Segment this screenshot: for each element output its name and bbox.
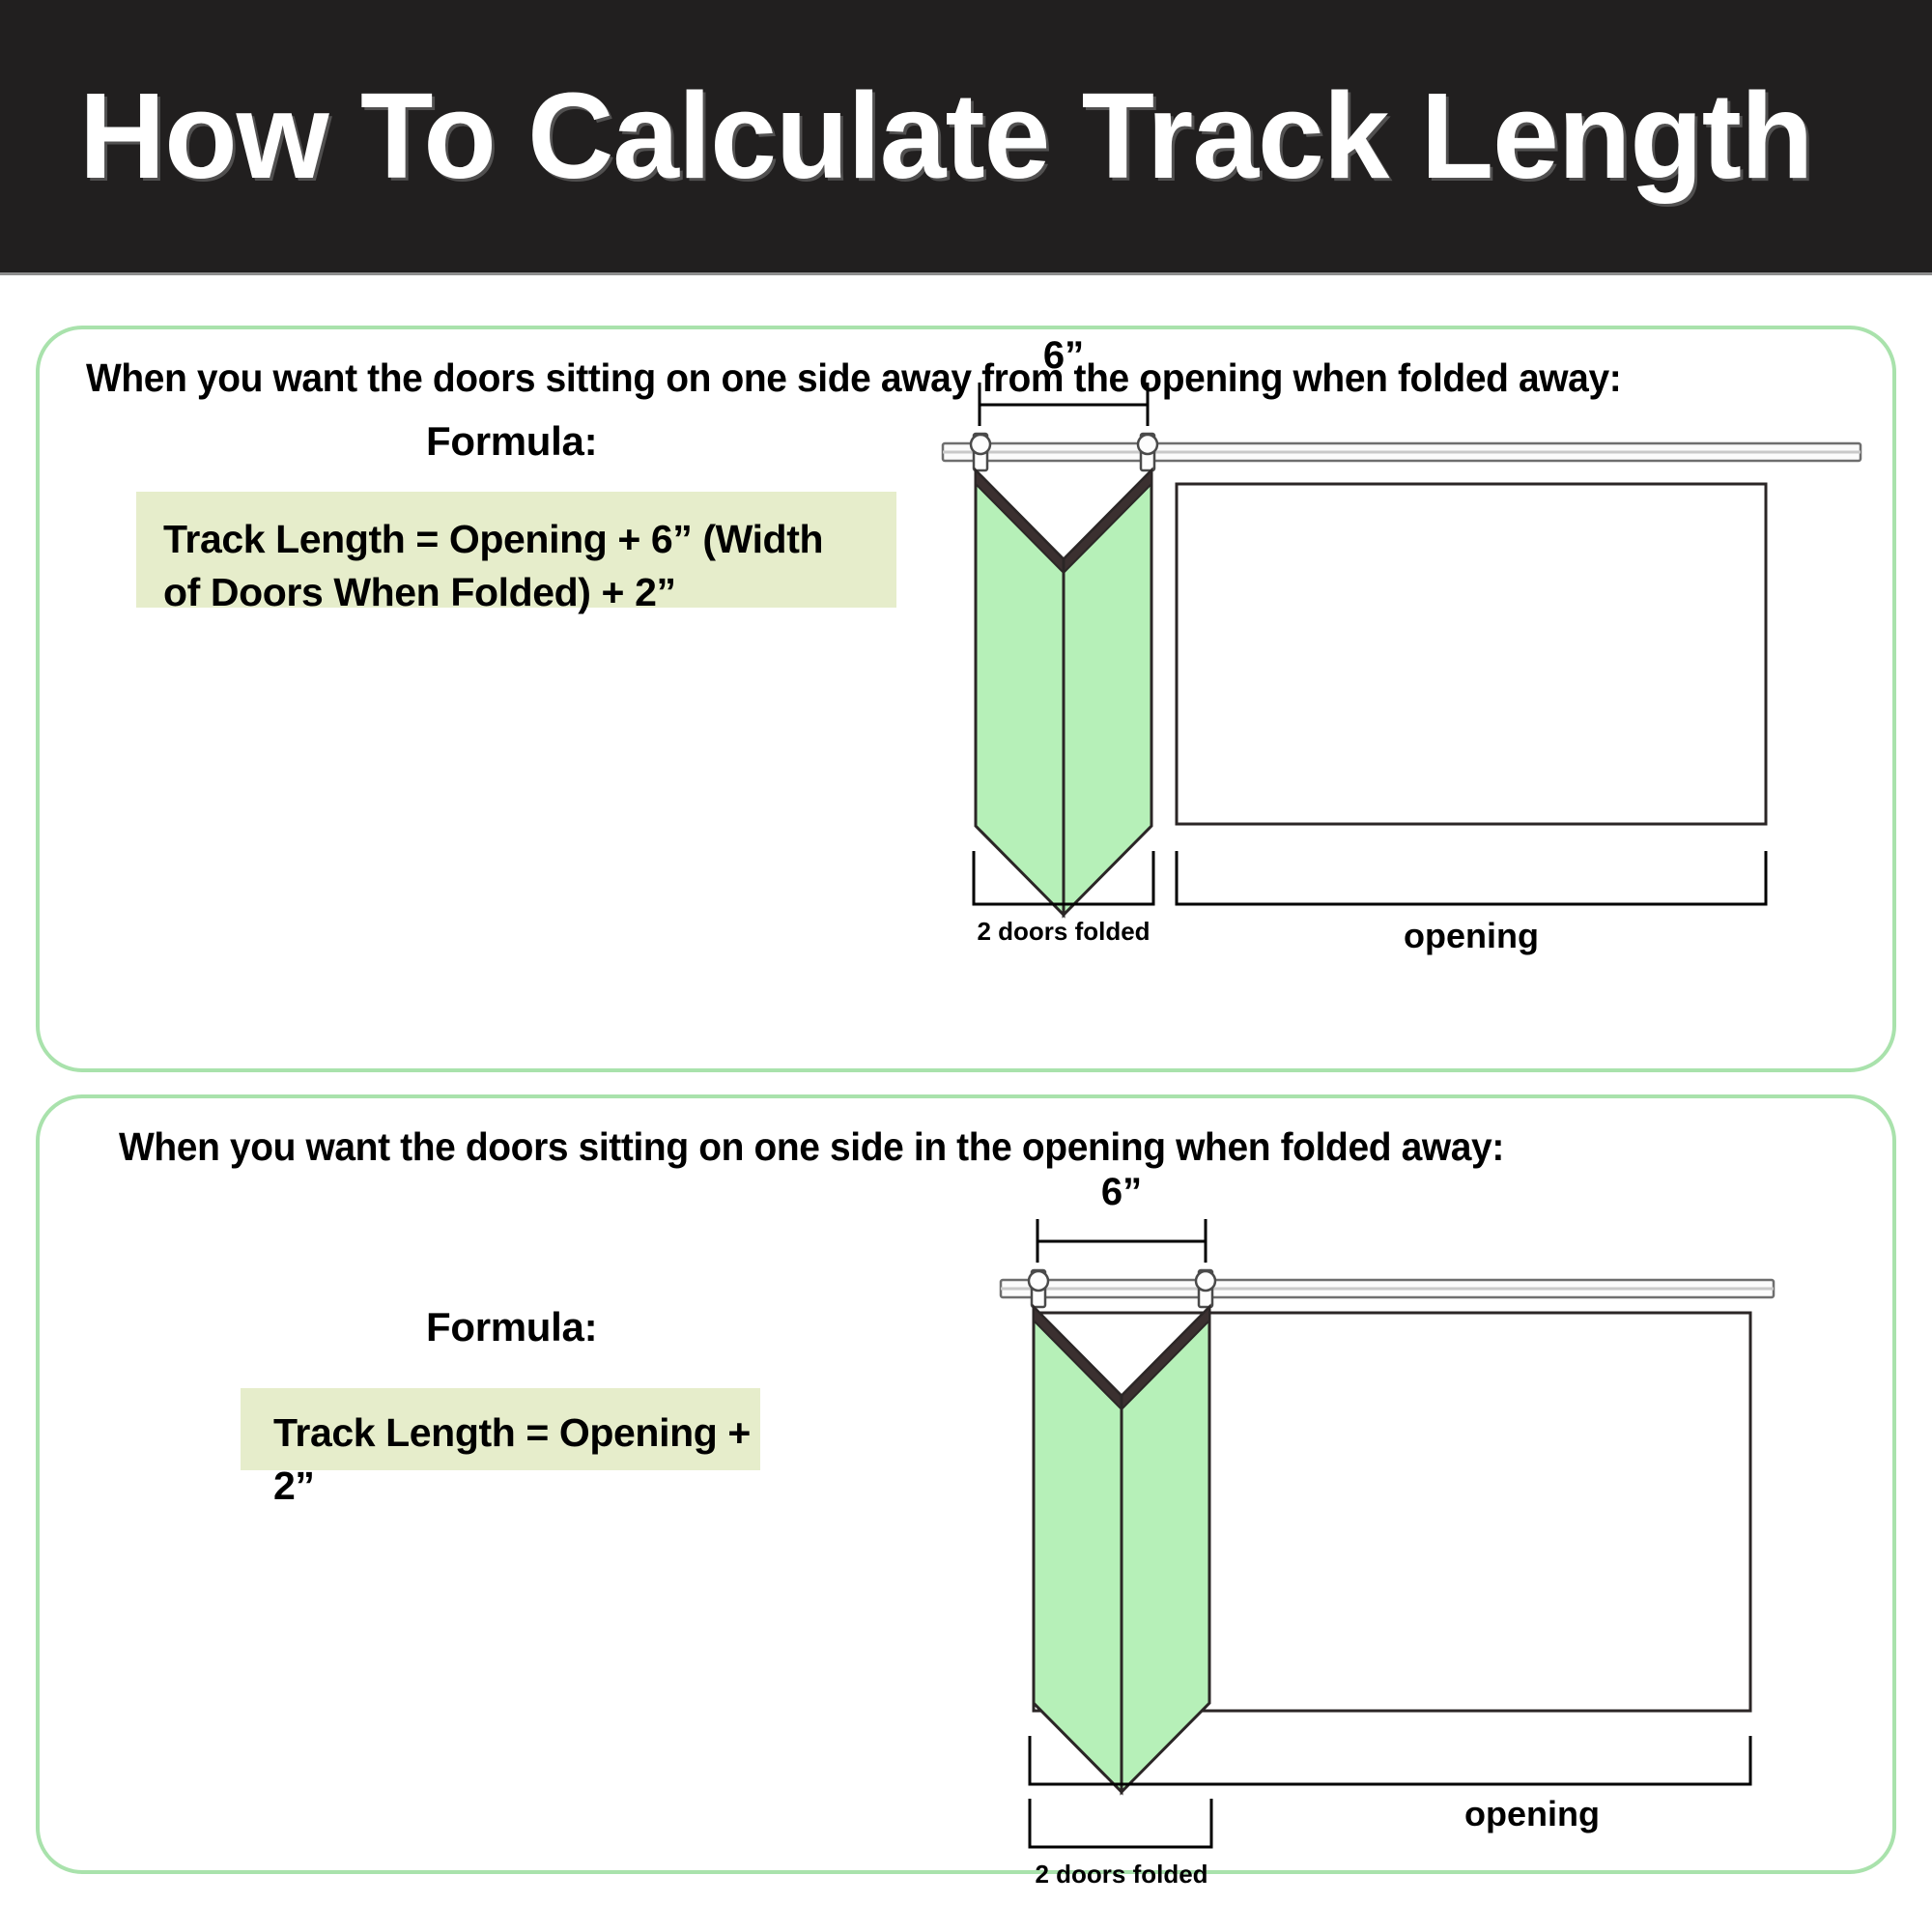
- panel-2-dimension-line: [1037, 1219, 1206, 1263]
- page-title: How To Calculate Track Length: [79, 75, 1812, 197]
- panel-1-formula-text: Track Length = Opening + 6” (Width of Do…: [136, 492, 896, 608]
- panel-2-track-rail: [1001, 1280, 1774, 1297]
- panel-2-roller-right: [1196, 1270, 1215, 1307]
- panel-1-bracket-opening: [1177, 851, 1766, 904]
- panel-1-formula-label: Formula:: [426, 418, 597, 465]
- panel-1-diagram: 6”: [923, 329, 1889, 1064]
- panel-doors-inside-opening: When you want the doors sitting on one s…: [36, 1094, 1896, 1874]
- panel-1-roller-right: [1138, 434, 1157, 470]
- panel-1-roller-left: [971, 434, 990, 470]
- panel-1-caption-opening: opening: [1404, 916, 1539, 955]
- panel-1-folded-doors: [976, 470, 1151, 915]
- panel-1-caption-doors-folded: 2 doors folded: [977, 917, 1150, 946]
- panel-1-track-rail: [943, 443, 1861, 461]
- panel-2-bracket-doors-folded: [1030, 1799, 1211, 1847]
- panel-2-formula-label: Formula:: [426, 1304, 597, 1350]
- panel-2-heading: When you want the doors sitting on one s…: [119, 1124, 1504, 1170]
- panel-2-caption-doors-folded: 2 doors folded: [1035, 1860, 1207, 1889]
- panel-1-dimension-label-6in: 6”: [1043, 334, 1084, 377]
- panel-doors-away-from-opening: When you want the doors sitting on one s…: [36, 326, 1896, 1072]
- panel-2-roller-left: [1029, 1270, 1048, 1307]
- panel-1-opening-rect: [1177, 484, 1766, 824]
- panel-2-dimension-label-6in: 6”: [1101, 1171, 1142, 1213]
- panel-2-formula-text: Track Length = Opening + 2”: [241, 1388, 760, 1470]
- panel-1-dimension-line: [980, 383, 1148, 426]
- panel-2-diagram: 6”: [981, 1166, 1909, 1881]
- page-header-bar: How To Calculate Track Length: [0, 0, 1932, 275]
- panel-2-caption-opening: opening: [1464, 1794, 1600, 1833]
